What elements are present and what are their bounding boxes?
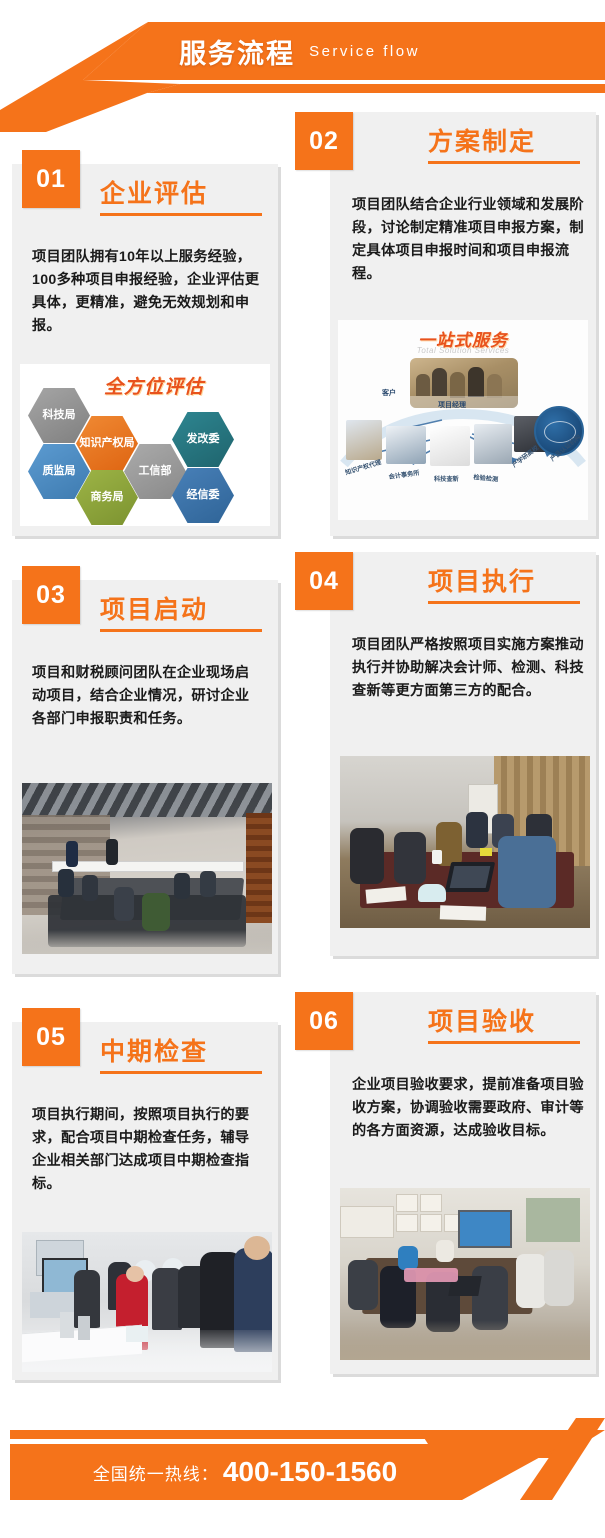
oss-caption-4: 检验检测: [473, 472, 499, 484]
oss-caption-3: 科技查新: [434, 474, 459, 483]
card-body-03: 项目和财税顾问团队在企业现场启动项目，结合企业情况，研讨企业各部门申报职责和任务…: [32, 662, 262, 731]
hotline-label: 全国统一热线：: [93, 1460, 219, 1485]
card-title-underline-03: [100, 629, 262, 632]
flow-card-05[interactable]: 05 中期检查 项目执行期间，按照项目执行的要求，配合项目中期检查任务，辅导企业…: [12, 1022, 278, 1380]
oss-node-1: [346, 420, 382, 460]
hexagon-diagram-title: 全方位评估: [104, 372, 204, 399]
oss-node-2: [386, 426, 426, 464]
card-title-04: 项目执行: [428, 570, 580, 595]
card-photo-04: [340, 756, 590, 928]
card-photo-06: [340, 1188, 590, 1360]
hotline-group: 全国统一热线： 400-150-1560: [10, 1444, 480, 1500]
card-title-05: 中期检查: [100, 1040, 262, 1065]
hex-node-fagai: 发改委: [172, 412, 234, 467]
card-title-underline-05: [100, 1071, 262, 1074]
card-title-group-05: 中期检查: [100, 1040, 262, 1074]
hex-node-label: 工信部: [139, 465, 172, 478]
card-title-underline-02: [428, 161, 580, 164]
page-title: 服务流程: [179, 32, 295, 71]
one-stop-service-graphic: 一站式服务 Total Solution Services: [338, 320, 588, 520]
oss-label-customer: 客户: [382, 388, 396, 398]
card-title-underline-04: [428, 601, 580, 604]
step-badge-03: 03: [22, 566, 80, 624]
page-title-en: Service flow: [309, 43, 420, 60]
hex-node-label: 知识产权局: [80, 437, 135, 450]
hexagon-diagram-01: 全方位评估 科技局 知识产权局 质监局 商务局 工信部 发改委 经信委: [20, 364, 270, 526]
card-title-group-03: 项目启动: [100, 598, 262, 632]
card-title-group-06: 项目验收: [428, 1010, 580, 1044]
card-title-group-01: 企业评估: [100, 182, 262, 216]
card-title-group-04: 项目执行: [428, 570, 580, 604]
page-header: 服务流程 Service flow: [0, 0, 605, 110]
step-badge-01: 01: [22, 150, 80, 208]
oss-node-3: [430, 426, 470, 466]
card-body-02: 项目团队结合企业行业领域和发展阶段，讨论制定精准项目申报方案，制定具体项目申报时…: [352, 194, 584, 286]
flow-card-06[interactable]: 06 项目验收 企业项目验收要求，提前准备项目验收方案，协调验收需要政府、审计等…: [330, 992, 596, 1374]
card-title-group-02: 方案制定: [428, 130, 580, 164]
hex-node-label: 质监局: [43, 465, 76, 478]
flow-card-01[interactable]: 01 企业评估 项目团队拥有10年以上服务经验，100多种项目申报经验，企业评估…: [12, 164, 278, 536]
hotline-number[interactable]: 400-150-1560: [223, 1456, 397, 1488]
hex-node-label: 发改委: [187, 433, 220, 446]
card-body-05: 项目执行期间，按照项目执行的要求，配合项目中期检查任务，辅导企业相关部门达成项目…: [32, 1104, 262, 1196]
header-title-group: 服务流程 Service flow: [0, 22, 605, 80]
hex-node-label: 经信委: [187, 489, 220, 502]
flow-card-04[interactable]: 04 项目执行 项目团队严格按照项目实施方案推动执行并协助解决会计师、检测、科技…: [330, 552, 596, 956]
flow-card-02[interactable]: 02 方案制定 项目团队结合企业行业领域和发展阶段，讨论制定精准项目申报方案，制…: [330, 112, 596, 536]
flow-card-03[interactable]: 03 项目启动 项目和财税顾问团队在企业现场启动项目，结合企业情况，研讨企业各部…: [12, 580, 278, 974]
card-title-03: 项目启动: [100, 598, 262, 623]
step-badge-04: 04: [295, 552, 353, 610]
step-badge-05: 05: [22, 1008, 80, 1066]
oss-node-4: [474, 424, 512, 464]
page-footer: 全国统一热线： 400-150-1560: [0, 1418, 605, 1538]
card-body-04: 项目团队严格按照项目实施方案推动执行并协助解决会计师、检测、科技查新等更方面第三…: [352, 634, 584, 703]
card-photo-05: [22, 1232, 272, 1372]
card-title-06: 项目验收: [428, 1010, 580, 1035]
oss-subtitle: Total Solution Services: [338, 346, 588, 355]
card-title-underline-01: [100, 213, 262, 216]
service-flow-page: 服务流程 Service flow 01 企业评估 项目团队拥有10年以上服务经…: [0, 0, 605, 1538]
card-body-01: 项目团队拥有10年以上服务经验，100多种项目申报经验，企业评估更具体，更精准，…: [32, 246, 262, 338]
step-badge-02: 02: [295, 112, 353, 170]
card-title-02: 方案制定: [428, 130, 580, 155]
oss-label-manager: 项目经理: [438, 400, 466, 410]
hex-node-label: 商务局: [91, 491, 124, 504]
card-title-01: 企业评估: [100, 182, 262, 207]
hex-node-zscq: 知识产权局: [76, 416, 138, 471]
card-title-underline-06: [428, 1041, 580, 1044]
card-body-06: 企业项目验收要求，提前准备项目验收方案，协调验收需要政府、审计等的各方面资源，达…: [352, 1074, 584, 1143]
hex-node-label: 科技局: [43, 409, 76, 422]
step-badge-06: 06: [295, 992, 353, 1050]
hex-node-keji: 科技局: [28, 388, 90, 443]
card-photo-03: [22, 783, 272, 954]
